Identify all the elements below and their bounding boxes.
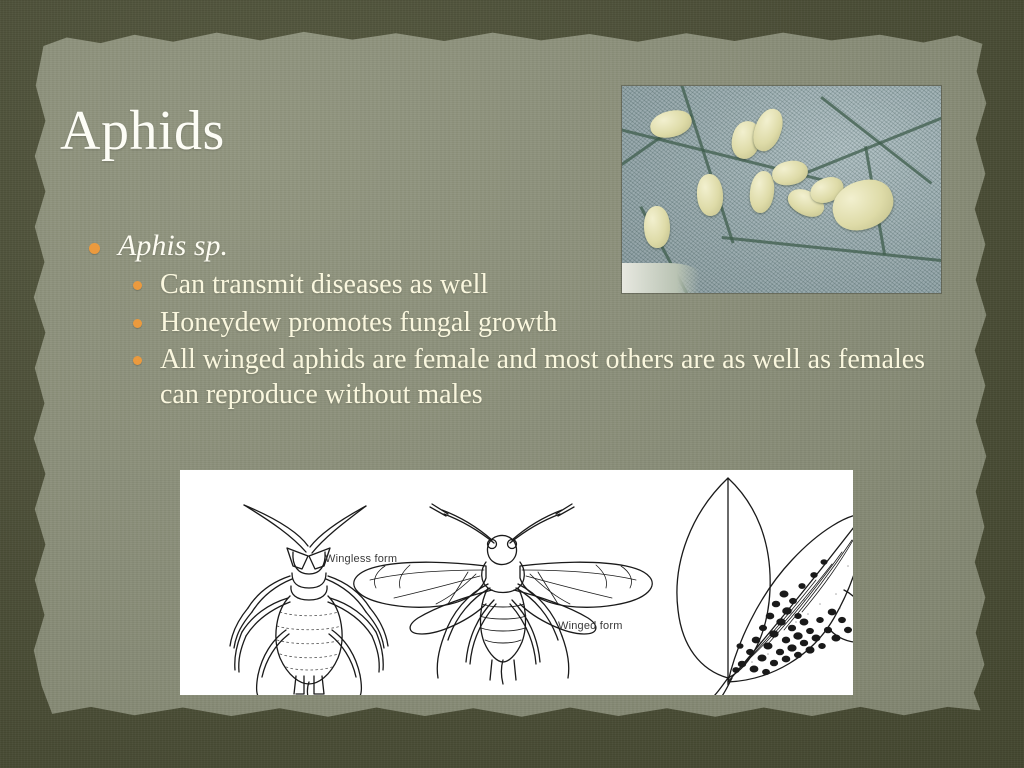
sub-bullet-list: Can transmit diseases as well Honeydew p… (80, 267, 960, 412)
bullet-level2-text: All winged aphids are female and most ot… (160, 344, 925, 410)
bullet-level2: Can transmit diseases as well (80, 267, 960, 302)
bullet-dot-icon (89, 243, 100, 254)
slide: Aphids Aphis sp. (0, 0, 1024, 768)
bullet-dot-icon (133, 319, 142, 328)
bullet-level2: Honeydew promotes fungal growth (80, 305, 960, 340)
bullet-level1: Aphis sp. (80, 228, 960, 263)
figure-label-winged: Winged form (558, 620, 623, 632)
bullet-level2-text: Can transmit diseases as well (160, 269, 488, 300)
bullet-level1-text: Aphis sp. (118, 229, 228, 262)
bullet-dot-icon (133, 281, 142, 290)
bullet-list: Aphis sp. Can transmit diseases as well … (80, 228, 960, 414)
figure-label-wingless: Wingless form (325, 553, 397, 565)
aphid-forms-drawing (180, 470, 853, 695)
aphid-forms-figure: Wingless form Winged form (180, 470, 853, 695)
bullet-level2: All winged aphids are female and most ot… (80, 342, 960, 413)
page-title: Aphids (60, 102, 225, 161)
bullet-level2-text: Honeydew promotes fungal growth (160, 307, 557, 338)
bullet-dot-icon (133, 356, 142, 365)
